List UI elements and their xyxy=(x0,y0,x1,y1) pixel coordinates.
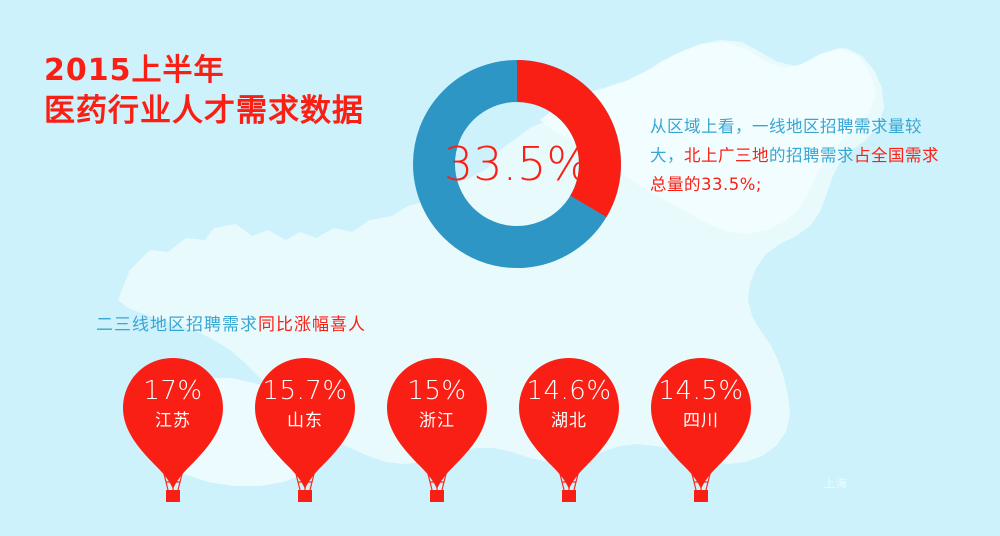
region-note-seg3: 的招聘需求 xyxy=(769,146,854,165)
hot-air-balloon-icon xyxy=(646,356,756,506)
balloon-sichuan[interactable]: 14.5% 四川 xyxy=(646,356,756,506)
region-note: 从区域上看，一线地区招聘需求量较大，北上广三地的招聘需求占全国需求总量的33.5… xyxy=(650,112,950,199)
page-title: 2015上半年 医药行业人才需求数据 xyxy=(44,54,464,128)
tier-heading-highlight: 同比涨幅喜人 xyxy=(258,315,366,335)
donut-chart: 33.5% xyxy=(413,60,621,268)
balloon-hubei[interactable]: 14.6% 湖北 xyxy=(514,356,624,506)
hot-air-balloon-icon xyxy=(514,356,624,506)
balloon-row: 17% 江苏 15.7% 山东 xyxy=(118,356,878,516)
tier-heading: 二三线地区招聘需求同比涨幅喜人 xyxy=(96,310,366,335)
hot-air-balloon-icon xyxy=(118,356,228,506)
title-line-2: 医药行业人才需求数据 xyxy=(44,94,464,129)
map-label-shanghai: 上海 xyxy=(824,475,848,491)
balloon-shandong[interactable]: 15.7% 山东 xyxy=(250,356,360,506)
donut-center-value: 33.5% xyxy=(413,60,621,268)
balloon-zhejiang[interactable]: 15% 浙江 xyxy=(382,356,492,506)
balloon-jiangsu[interactable]: 17% 江苏 xyxy=(118,356,228,506)
region-note-highlight-cities: 北上广三地 xyxy=(684,146,769,165)
title-line-1: 2015上半年 xyxy=(44,54,464,88)
tier-heading-plain: 二三线地区招聘需求 xyxy=(96,315,258,335)
hot-air-balloon-icon xyxy=(250,356,360,506)
hot-air-balloon-icon xyxy=(382,356,492,506)
infographic-canvas: 2015上半年 医药行业人才需求数据 33.5% 从区域上看，一线地区招聘需求量… xyxy=(0,0,1000,536)
